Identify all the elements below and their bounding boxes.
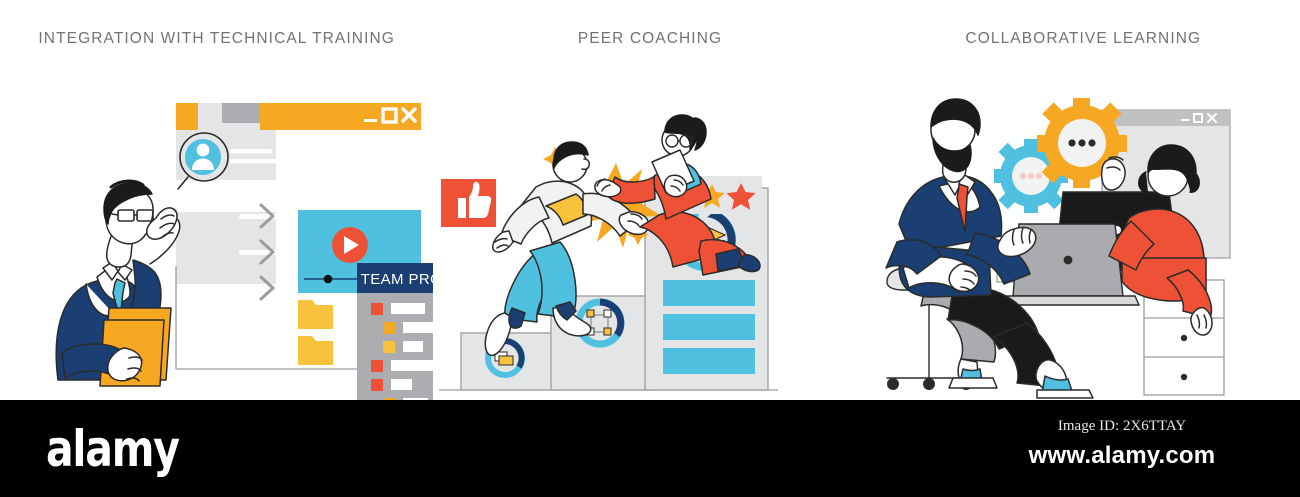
team-project-panel: TEAM PROJECT bbox=[357, 263, 433, 400]
panel-collaborative-learning: COLLABORATIVE LEARNING bbox=[867, 0, 1300, 400]
artwork-integration-with-technical-training: TEAM PROJECT bbox=[0, 58, 433, 400]
alamy-watermark-bar: alamy Image ID: 2X6TTAY www.alamy.com bbox=[0, 400, 1300, 497]
image-id-label: Image ID: 2X6TTAY bbox=[992, 418, 1252, 435]
team-project-title: TEAM PROJECT bbox=[361, 271, 433, 288]
alamy-logo: alamy bbox=[46, 424, 179, 474]
minimize-icon bbox=[1181, 119, 1189, 121]
folder-icon-group bbox=[298, 300, 333, 365]
panel-title-2: PEER COACHING bbox=[433, 30, 866, 48]
play-button bbox=[332, 227, 368, 263]
panel-row: INTEGRATION WITH TECHNICAL TRAINING bbox=[0, 0, 1300, 400]
alamy-url: www.alamy.com bbox=[992, 442, 1252, 470]
panel-title-1: INTEGRATION WITH TECHNICAL TRAINING bbox=[0, 30, 433, 48]
panel-integration-with-technical-training: INTEGRATION WITH TECHNICAL TRAINING bbox=[0, 0, 433, 400]
illustration-sheet: INTEGRATION WITH TECHNICAL TRAINING bbox=[0, 0, 1300, 497]
user-avatar-icon bbox=[183, 137, 223, 177]
panel-peer-coaching: PEER COACHING bbox=[433, 0, 866, 400]
thumbs-up-badge bbox=[441, 179, 496, 227]
minimize-icon bbox=[364, 119, 377, 122]
step-bars bbox=[663, 280, 755, 374]
folder-icon bbox=[298, 336, 333, 365]
sidebar-panel-1 bbox=[176, 130, 282, 299]
chat-dots-icon bbox=[1068, 139, 1095, 146]
panel-title-3: COLLABORATIVE LEARNING bbox=[867, 30, 1300, 48]
artwork-collaborative-learning bbox=[867, 58, 1300, 400]
progress-handle bbox=[324, 275, 333, 284]
artwork-peer-coaching bbox=[433, 58, 866, 400]
chat-dots-icon bbox=[1020, 173, 1042, 179]
